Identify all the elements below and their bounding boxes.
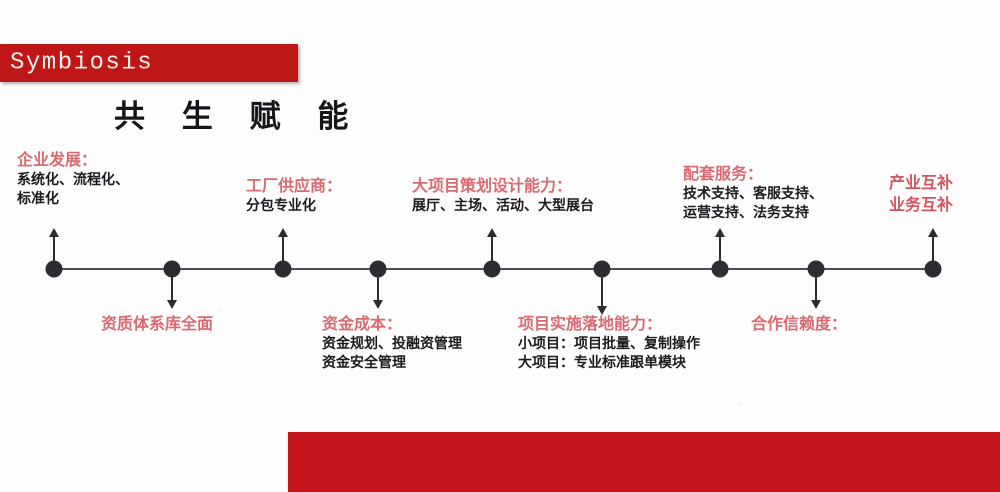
- page-title: 共 生 赋 能: [114, 91, 361, 136]
- connector-stem-1: [53, 236, 55, 270]
- timeline-label-9-heading: 产业互补: [889, 172, 953, 194]
- timeline-label-1-heading: 企业发展：: [17, 149, 129, 171]
- arrow-down-icon-8: [811, 300, 821, 309]
- arrow-down-icon-2: [167, 300, 177, 309]
- connector-stem-5: [491, 236, 493, 270]
- timeline-label-2: 资质体系库全面: [101, 313, 213, 335]
- timeline-label-3-heading: 工厂供应商：: [246, 175, 342, 197]
- timeline-label-8-heading: 合作信赖度：: [751, 313, 847, 335]
- timeline-label-1-line-2: 标准化: [17, 190, 129, 210]
- brand-label: Symbiosis: [10, 50, 153, 77]
- arrow-up-icon-5: [487, 228, 497, 237]
- timeline-label-1-line-1: 系统化、流程化、: [17, 171, 129, 191]
- timeline-label-7-line-2: 运营支持、法务支持: [683, 204, 823, 224]
- timeline-label-4-line-2: 资金安全管理: [322, 354, 462, 374]
- arrow-up-icon-1: [49, 228, 59, 237]
- arrow-up-icon-3: [278, 228, 288, 237]
- arrow-up-icon-9: [928, 228, 938, 237]
- timeline-label-4-line-1: 资金规划、投融资管理: [322, 335, 462, 355]
- timeline-label-5: 大项目策划设计能力： 展厅、主场、活动、大型展台: [412, 175, 594, 216]
- connector-stem-9: [932, 236, 934, 270]
- connector-stem-3: [282, 236, 284, 270]
- connector-stem-8: [815, 270, 817, 302]
- timeline-label-5-heading: 大项目策划设计能力：: [412, 175, 594, 197]
- timeline-label-4: 资金成本： 资金规划、投融资管理 资金安全管理: [322, 313, 462, 374]
- timeline-label-8: 合作信赖度：: [751, 313, 847, 335]
- timeline-label-1: 企业发展： 系统化、流程化、 标准化: [17, 149, 129, 210]
- header-red-band: Symbiosis: [0, 44, 298, 82]
- timeline-label-6: 项目实施落地能力： 小项目：项目批量、复制操作 大项目：专业标准跟单模块: [518, 313, 700, 374]
- timeline-label-6-heading: 项目实施落地能力：: [518, 313, 700, 335]
- timeline-label-4-heading: 资金成本：: [322, 313, 462, 335]
- timeline-label-2-heading: 资质体系库全面: [101, 313, 213, 335]
- timeline-label-9: 产业互补 业务互补: [889, 172, 953, 215]
- slide-canvas: Symbiosis 共 生 赋 能 企业发展： 系统化、流程化、 标准化 工厂供…: [0, 0, 1000, 492]
- timeline-label-6-line-2: 大项目：专业标准跟单模块: [518, 354, 700, 374]
- timeline-label-3-line-1: 分包专业化: [246, 197, 342, 217]
- connector-stem-4: [377, 270, 379, 302]
- timeline-label-7-heading: 配套服务：: [683, 163, 823, 185]
- arrow-up-icon-7: [715, 228, 725, 237]
- connector-stem-2: [171, 270, 173, 302]
- timeline-label-7-line-1: 技术支持、客服支持、: [683, 185, 823, 205]
- timeline-label-6-line-1: 小项目：项目批量、复制操作: [518, 335, 700, 355]
- timeline-label-9-heading-2: 业务互补: [889, 194, 953, 216]
- connector-stem-6: [601, 270, 603, 308]
- timeline-label-3: 工厂供应商： 分包专业化: [246, 175, 342, 216]
- timeline-label-7: 配套服务： 技术支持、客服支持、 运营支持、法务支持: [683, 163, 823, 224]
- footer-red-band: [288, 432, 1000, 492]
- connector-stem-7: [719, 236, 721, 270]
- timeline-label-5-line-1: 展厅、主场、活动、大型展台: [412, 197, 594, 217]
- arrow-down-icon-4: [373, 300, 383, 309]
